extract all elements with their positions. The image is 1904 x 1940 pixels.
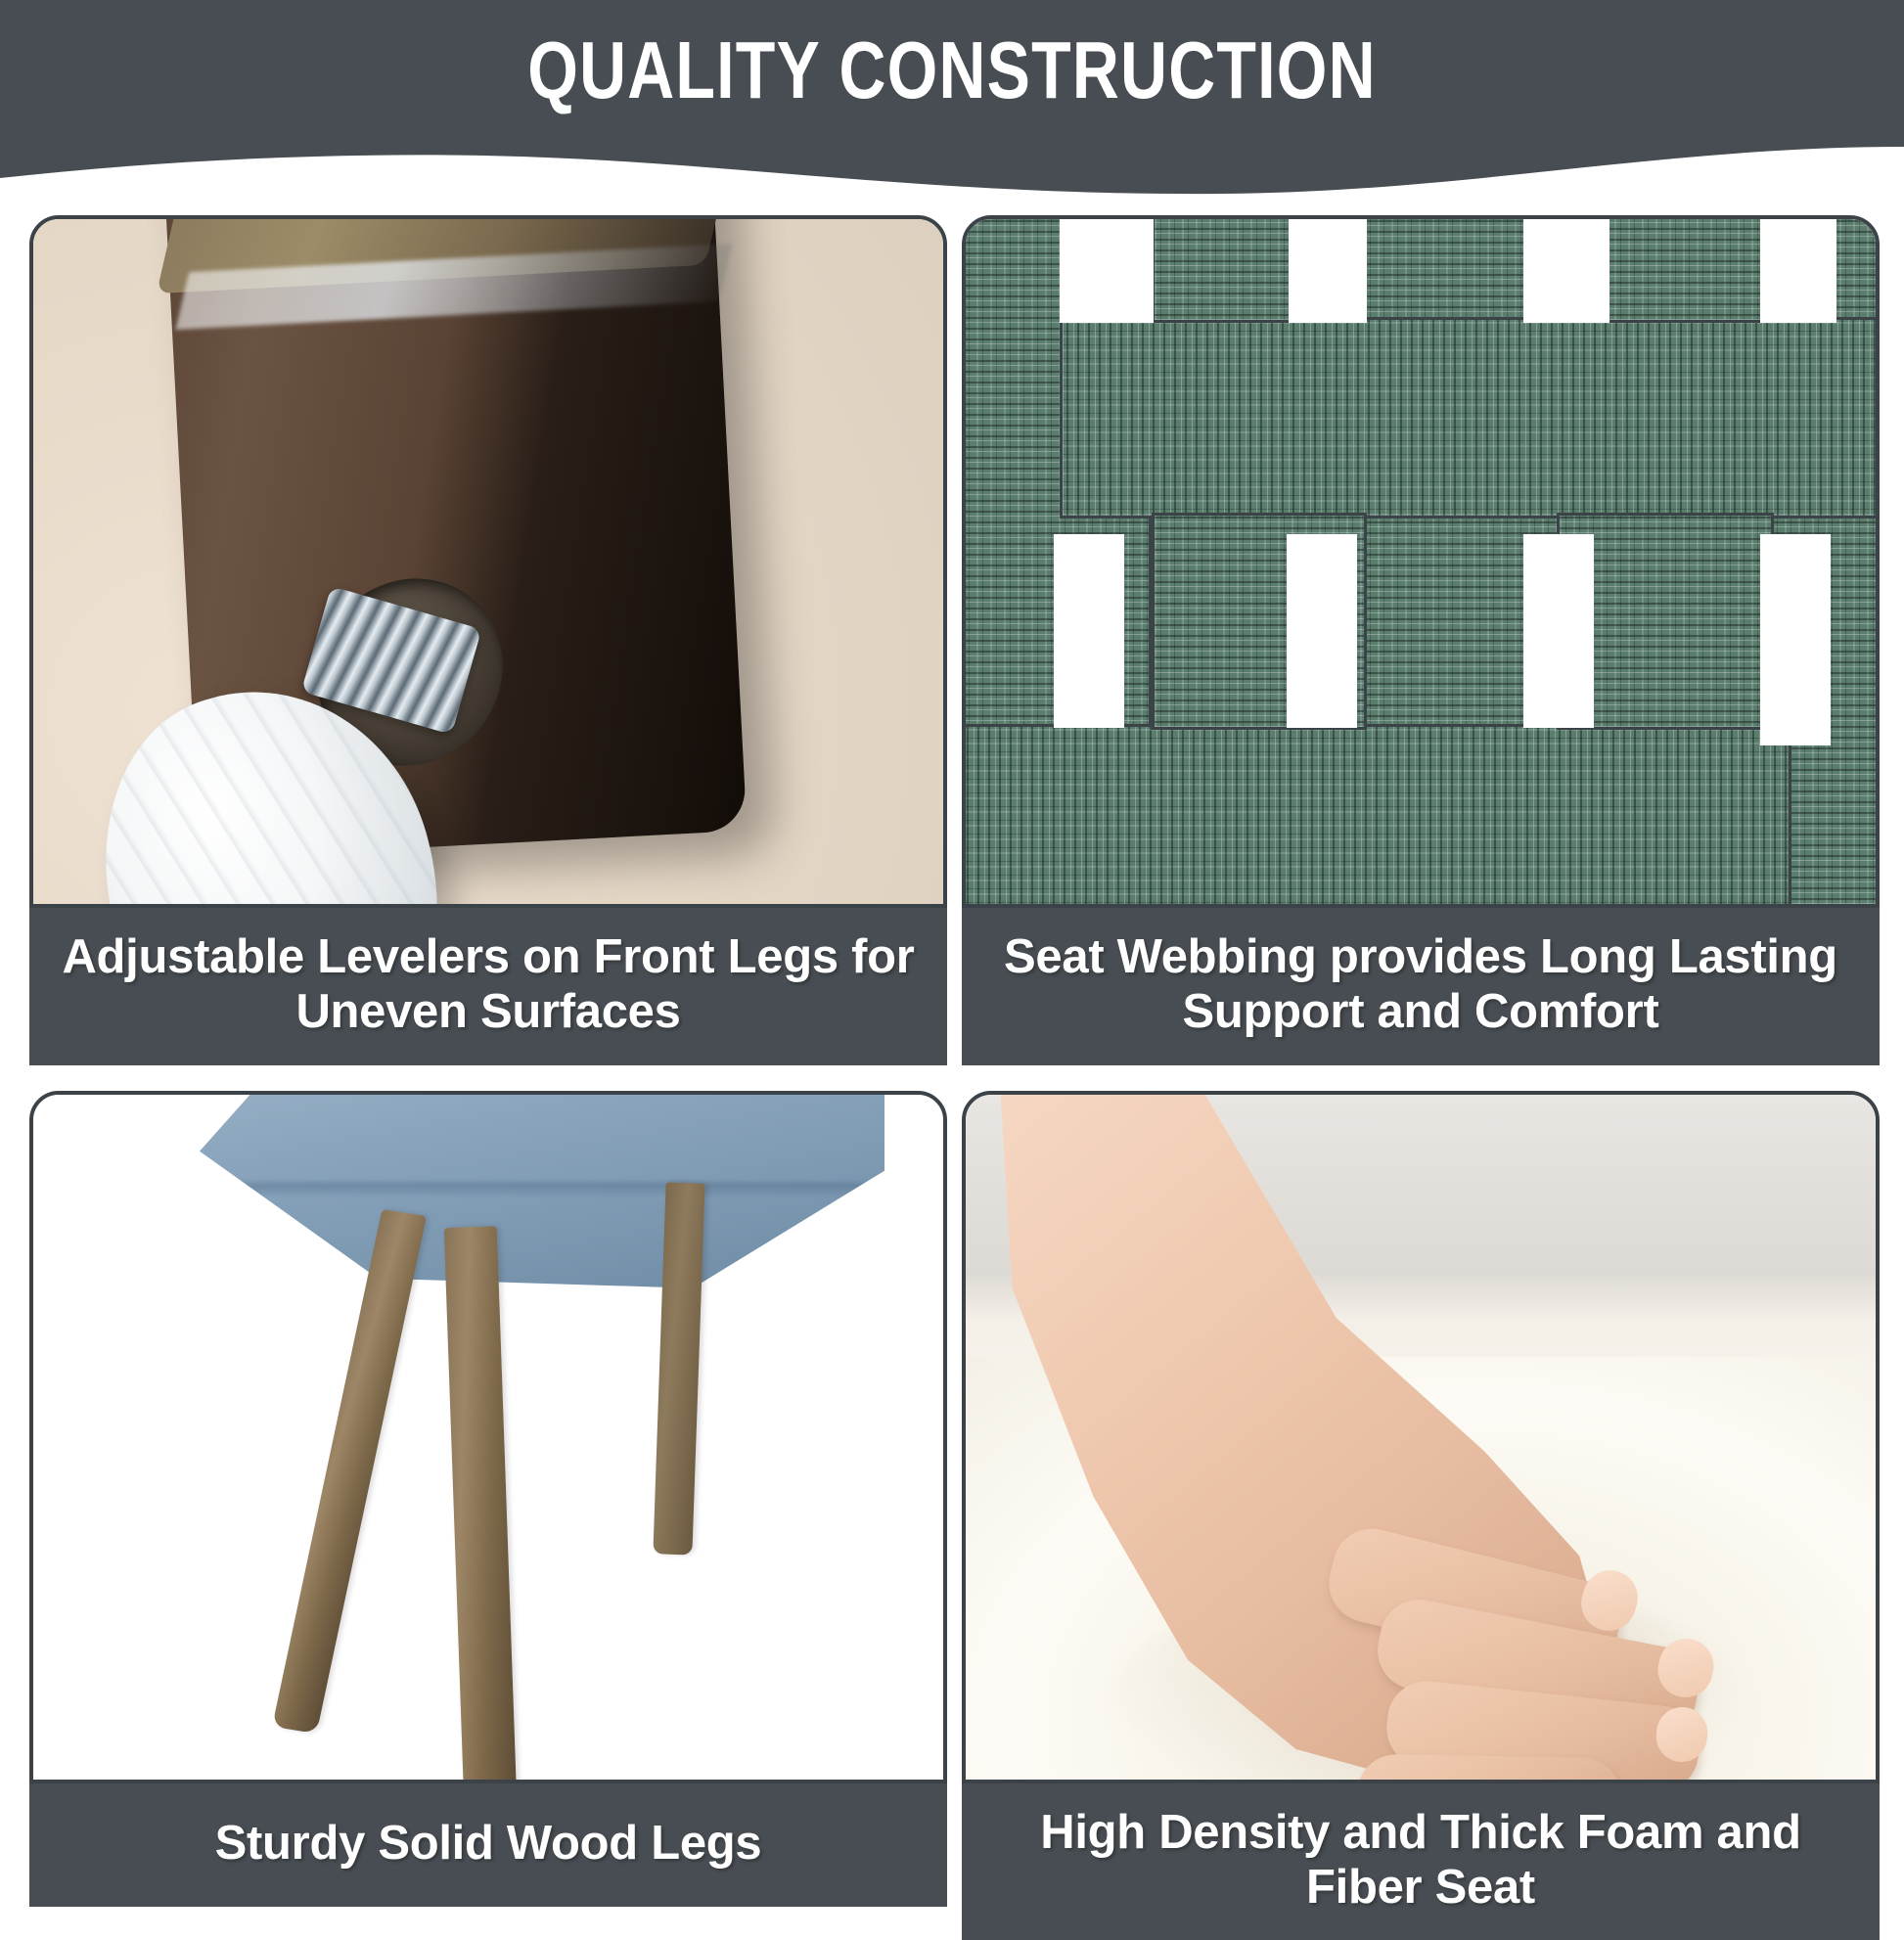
caption-seat-webbing: Seat Webbing provides Long Lasting Suppo… (962, 908, 1880, 1065)
webbing-gap (1287, 534, 1357, 728)
webbing-gap (1760, 534, 1831, 745)
feature-card-high-density-foam: High Density and Thick Foam and Fiber Se… (962, 1091, 1880, 1940)
webbing-gap (1060, 219, 1154, 323)
webbing-gap (1523, 534, 1594, 728)
caption-solid-wood-legs: Sturdy Solid Wood Legs (29, 1783, 947, 1907)
webbing-gap (1523, 219, 1609, 323)
webbing-gap (1760, 219, 1836, 323)
feature-image-high-density-foam (962, 1091, 1880, 1783)
feature-row-bottom: Sturdy Solid Wood Legs Hi (29, 1091, 1888, 1940)
feature-card-seat-webbing: Seat Webbing provides Long Lasting Suppo… (962, 215, 1880, 1065)
header-banner: QUALITY CONSTRUCTION (0, 0, 1904, 196)
feature-card-adjustable-levelers: Adjustable Levelers on Front Legs for Un… (29, 215, 947, 1065)
webbing-gap (1289, 219, 1367, 323)
caption-high-density-foam: High Density and Thick Foam and Fiber Se… (962, 1783, 1880, 1940)
feature-row-top: Adjustable Levelers on Front Legs for Un… (29, 215, 1888, 1065)
feature-image-solid-wood-legs (29, 1091, 947, 1783)
caption-adjustable-levelers: Adjustable Levelers on Front Legs for Un… (29, 908, 947, 1065)
webbing-strap-horizontal (1060, 317, 1876, 519)
page-title: QUALITY CONSTRUCTION (191, 29, 1714, 111)
webbing-gap (1054, 534, 1124, 728)
webbing-background (966, 219, 1876, 904)
feature-image-adjustable-levelers (29, 215, 947, 908)
feature-image-seat-webbing (962, 215, 1880, 908)
feature-card-solid-wood-legs: Sturdy Solid Wood Legs (29, 1091, 947, 1940)
finger-pinky (1356, 1753, 1621, 1779)
feature-grid: Adjustable Levelers on Front Legs for Un… (29, 215, 1888, 1940)
webbing-strap-horizontal (966, 724, 1791, 904)
